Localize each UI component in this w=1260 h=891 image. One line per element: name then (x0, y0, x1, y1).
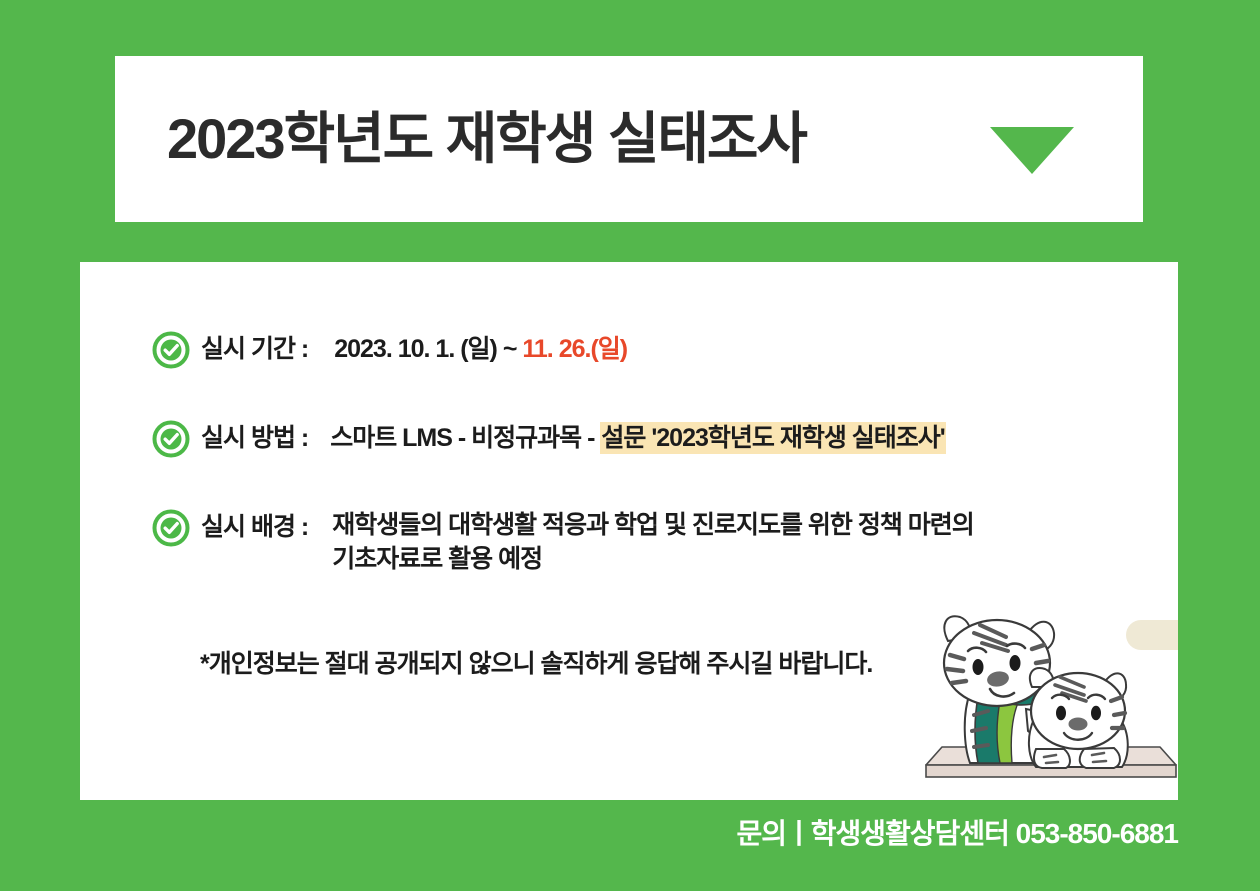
info-row-period: 실시 기간 : 2023. 10. 1. (일) ~ 11. 26.(일) (152, 330, 1112, 369)
check-circle-icon (152, 331, 190, 369)
info-row-value: 재학생들의 대학생활 적응과 학업 및 진로지도를 위한 정책 마련의 기초자료… (332, 508, 974, 576)
footer-contact: 문의ㅣ학생생활상담센터 053-850-6881 (0, 812, 1178, 852)
poster-canvas: 2023학년도 재학생 실태조사 실시 기간 : 2023. 10. 1. (일… (0, 0, 1260, 891)
info-row-label: 실시 기간 : (201, 330, 308, 368)
info-row-value: 2023. 10. 1. (일) ~ 11. 26.(일) (334, 330, 627, 368)
tiger-mascot-illustration (908, 597, 1178, 800)
content-panel: 실시 기간 : 2023. 10. 1. (일) ~ 11. 26.(일) 실시… (80, 262, 1178, 800)
period-end-value: 11. 26.(일) (522, 335, 627, 363)
method-survey-name: 설문 '2023학년도 재학생 실태조사' (600, 422, 945, 454)
period-start-value: 2023. 10. 1. (일) ~ (334, 335, 522, 363)
method-path-value: 스마트 LMS - 비정규과목 - (330, 424, 600, 452)
info-row-list: 실시 기간 : 2023. 10. 1. (일) ~ 11. 26.(일) 실시… (152, 330, 1112, 576)
info-row-label: 실시 방법 : (201, 419, 308, 457)
page-title: 2023학년도 재학생 실태조사 (167, 111, 806, 167)
check-circle-icon (152, 509, 190, 547)
check-circle-icon (152, 420, 190, 458)
triangle-down-icon (990, 127, 1074, 174)
privacy-note: *개인정보는 절대 공개되지 않으니 솔직하게 응답해 주시길 바랍니다. (200, 644, 872, 680)
info-row-value: 스마트 LMS - 비정규과목 - 설문 '2023학년도 재학생 실태조사' (330, 419, 946, 457)
info-row-method: 실시 방법 : 스마트 LMS - 비정규과목 - 설문 '2023학년도 재학… (152, 419, 1112, 458)
title-panel: 2023학년도 재학생 실태조사 (115, 56, 1143, 222)
info-row-label: 실시 배경 : (201, 508, 308, 546)
info-row-background: 실시 배경 : 재학생들의 대학생활 적응과 학업 및 진로지도를 위한 정책 … (152, 508, 1112, 576)
background-line-2: 기초자료로 활용 예정 (332, 545, 542, 573)
background-line-1: 재학생들의 대학생활 적응과 학업 및 진로지도를 위한 정책 마련의 (332, 511, 974, 539)
